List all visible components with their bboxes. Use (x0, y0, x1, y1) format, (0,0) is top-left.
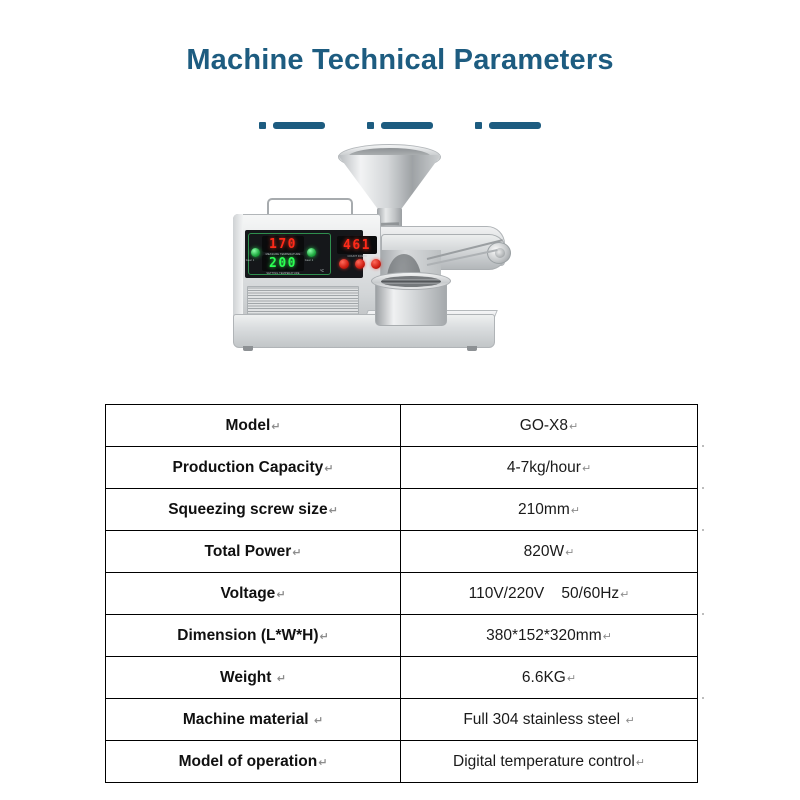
divider-bar-icon (489, 122, 541, 129)
paragraph-mark-icon: ↵ (566, 672, 576, 685)
paragraph-mark-icon: ↵ (313, 714, 323, 727)
table-row: Machine material ↵ Full 304 stainless st… (106, 699, 698, 741)
count-down-label: COUNT DOWN (333, 255, 381, 258)
machine-foot (467, 346, 477, 351)
table-row: Dimension (L*W*H)↵ 380*152*320mm↵ (106, 615, 698, 657)
divider-bar-icon (381, 122, 433, 129)
table-row: Weight ↵ 6.6KG↵ (106, 657, 698, 699)
table-row: Production Capacity↵ 4-7kg/hour↵ (106, 447, 698, 489)
paragraph-mark-icon: ↵ (602, 630, 612, 643)
divider-bar-icon (273, 122, 325, 129)
spec-label: Production Capacity (173, 459, 324, 477)
spec-value-cell: GO-X8↵ (401, 405, 698, 447)
paragraph-mark-icon: ↵ (635, 756, 645, 769)
spec-label-cell: Model↵ (106, 405, 401, 447)
divider-group (259, 122, 325, 129)
gear-2-label: Gear 2 (301, 259, 317, 262)
spec-label-cell: Machine material ↵ (106, 699, 401, 741)
temperature-unit-label: ℃ (315, 269, 329, 273)
set-temperature-value: 200 (262, 257, 304, 270)
paragraph-mark-icon: ↵ (275, 588, 285, 601)
paragraph-mark-icon: ↵ (568, 420, 578, 433)
spec-value: 210mm (518, 501, 570, 519)
spec-value: Digital temperature control (453, 753, 635, 771)
spec-label: Voltage (220, 585, 275, 603)
gear-1-indicator-lamp (251, 248, 260, 257)
spec-value: 4-7kg/hour (507, 459, 581, 477)
specification-table: Model↵ GO-X8↵ Production Capacity↵ 4-7kg… (105, 404, 698, 783)
power-button[interactable] (339, 259, 349, 269)
paragraph-mark-icon: ↵ (564, 546, 574, 559)
paragraph-mark-icon: ↵ (570, 504, 580, 517)
spec-value-cell: 380*152*320mm↵ (401, 615, 698, 657)
table-row: Model of operation↵ Digital temperature … (106, 741, 698, 783)
spec-label: Total Power (205, 543, 292, 561)
spec-label: Weight (220, 669, 276, 687)
spec-value-cell: 820W↵ (401, 531, 698, 573)
specification-table-body: Model↵ GO-X8↵ Production Capacity↵ 4-7kg… (106, 405, 698, 783)
decorative-divider (0, 122, 800, 129)
product-spec-page: Machine Technical Parameters (0, 0, 800, 800)
machine-body-edge (233, 214, 243, 322)
count-down-value: 461 (337, 239, 377, 252)
spec-label-cell: Squeezing screw size↵ (106, 489, 401, 531)
page-edge-mark (702, 487, 704, 489)
page-title: Machine Technical Parameters (0, 44, 800, 77)
paragraph-mark-icon: ↵ (624, 714, 634, 727)
spec-value-cell: 110V/220V 50/60Hz↵ (401, 573, 698, 615)
spec-value: 6.6KG (522, 669, 566, 687)
spec-value: 380*152*320mm (486, 627, 601, 645)
paragraph-mark-icon: ↵ (328, 504, 338, 517)
spec-value: GO-X8 (520, 417, 568, 435)
press-out-button[interactable] (355, 259, 365, 269)
paragraph-mark-icon: ↵ (323, 462, 333, 475)
spec-value: 110V/220V 50/60Hz (469, 585, 620, 603)
page-edge-mark (702, 445, 704, 447)
paragraph-mark-icon: ↵ (581, 462, 591, 475)
page-edge-mark (702, 697, 704, 699)
paragraph-mark-icon: ↵ (319, 630, 329, 643)
table-row: Total Power↵ 820W↵ (106, 531, 698, 573)
paragraph-mark-icon: ↵ (270, 420, 280, 433)
spec-label-cell: Dimension (L*W*H)↵ (106, 615, 401, 657)
measured-temperature-value: 170 (262, 238, 304, 251)
base-plate (233, 314, 495, 348)
spec-value: 820W (524, 543, 565, 561)
table-row: Model↵ GO-X8↵ (106, 405, 698, 447)
paragraph-mark-icon: ↵ (317, 756, 327, 769)
spec-label: Model (226, 417, 271, 435)
title-block: Machine Technical Parameters (0, 44, 800, 77)
paragraph-mark-icon: ↵ (291, 546, 301, 559)
spec-label-cell: Model of operation↵ (106, 741, 401, 783)
spec-label-cell: Weight ↵ (106, 657, 401, 699)
spec-label-cell: Voltage↵ (106, 573, 401, 615)
spec-value: Full 304 stainless steel (463, 711, 624, 729)
page-edge-mark (702, 529, 704, 531)
spec-value-cell: 6.6KG↵ (401, 657, 698, 699)
spec-value-cell: Full 304 stainless steel ↵ (401, 699, 698, 741)
spec-label: Model of operation (179, 753, 318, 771)
table-row: Squeezing screw size↵ 210mm↵ (106, 489, 698, 531)
spec-value-cell: Digital temperature control↵ (401, 741, 698, 783)
spec-label: Dimension (L*W*H) (177, 627, 318, 645)
spec-label: Machine material (183, 711, 313, 729)
divider-dot-icon (259, 122, 266, 129)
gear-2-indicator-lamp (307, 248, 316, 257)
gear-1-label: Gear 1 (243, 259, 257, 262)
divider-group (367, 122, 433, 129)
oil-press-machine-photo: 170 MEASURE TEMPERATURE 200 SETTING TEMP… (215, 138, 545, 400)
hopper-cone (338, 155, 441, 211)
spec-value-cell: 4-7kg/hour↵ (401, 447, 698, 489)
page-edge-mark (702, 613, 704, 615)
spec-label-cell: Total Power↵ (106, 531, 401, 573)
machine-foot (243, 346, 253, 351)
spec-label: Squeezing screw size (168, 501, 327, 519)
clear-button[interactable] (371, 259, 381, 269)
set-temperature-label: SETTING TEMPERATURE (255, 272, 311, 275)
divider-dot-icon (367, 122, 374, 129)
spec-value-cell: 210mm↵ (401, 489, 698, 531)
spec-label-cell: Production Capacity↵ (106, 447, 401, 489)
paragraph-mark-icon: ↵ (619, 588, 629, 601)
divider-group (475, 122, 541, 129)
divider-dot-icon (475, 122, 482, 129)
table-row: Voltage↵ 110V/220V 50/60Hz↵ (106, 573, 698, 615)
oil-filter-mesh (381, 276, 441, 287)
paragraph-mark-icon: ↵ (276, 672, 286, 685)
